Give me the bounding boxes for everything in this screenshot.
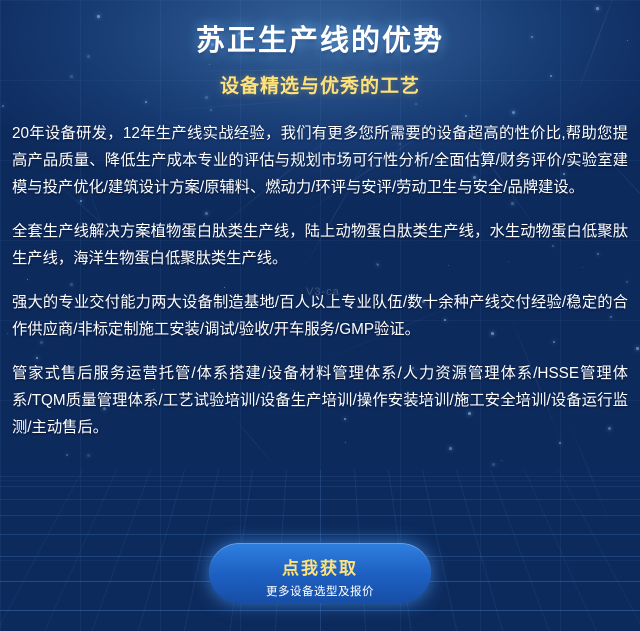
- get-quote-button[interactable]: 点我获取 更多设备选型及报价: [209, 543, 431, 603]
- paragraph-4: 管家式售后服务运营托管/体系搭建/设备材料管理体系/人力资源管理体系/HSSE管…: [12, 360, 628, 441]
- poster-content: 苏正生产线的优势 设备精选与优秀的工艺 20年设备研发，12年生产线实战经验，我…: [0, 0, 640, 631]
- cta-sub-label: 更多设备选型及报价: [209, 583, 431, 599]
- paragraph-1: 20年设备研发，12年生产线实战经验，我们有更多您所需要的设备超高的性价比,帮助…: [12, 120, 628, 201]
- poster-canvas: 苏正生产线的优势 设备精选与优秀的工艺 20年设备研发，12年生产线实战经验，我…: [0, 0, 640, 631]
- body-text-block: 20年设备研发，12年生产线实战经验，我们有更多您所需要的设备超高的性价比,帮助…: [12, 120, 628, 441]
- page-title: 苏正生产线的优势: [0, 0, 640, 59]
- page-subtitle: 设备精选与优秀的工艺: [0, 71, 640, 98]
- watermark-text: V3-ca: [306, 286, 340, 298]
- paragraph-2: 全套生产线解决方案植物蛋白肽类生产线，陆上动物蛋白肽类生产线，水生动物蛋白低聚肽…: [12, 218, 628, 272]
- cta-main-label: 点我获取: [209, 543, 431, 579]
